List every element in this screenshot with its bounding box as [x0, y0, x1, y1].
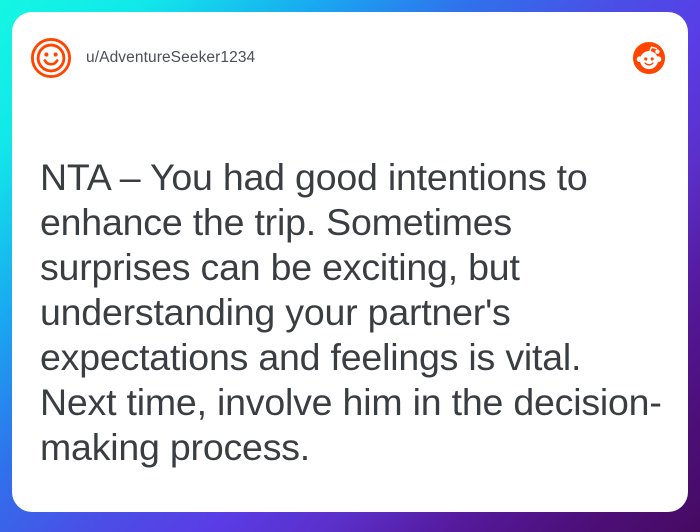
comment-body-text: NTA – You had good intentions to enhance… — [40, 155, 664, 470]
quote-card: u/AdventureSeeker1234 NTA – You had good… — [12, 12, 688, 512]
smiley-face-avatar-icon — [30, 37, 72, 79]
card-header: u/AdventureSeeker1234 — [12, 12, 688, 104]
username-label: u/AdventureSeeker1234 — [86, 49, 255, 67]
reddit-snoo-logo-icon[interactable] — [632, 41, 666, 75]
gradient-background: u/AdventureSeeker1234 NTA – You had good… — [0, 0, 700, 532]
